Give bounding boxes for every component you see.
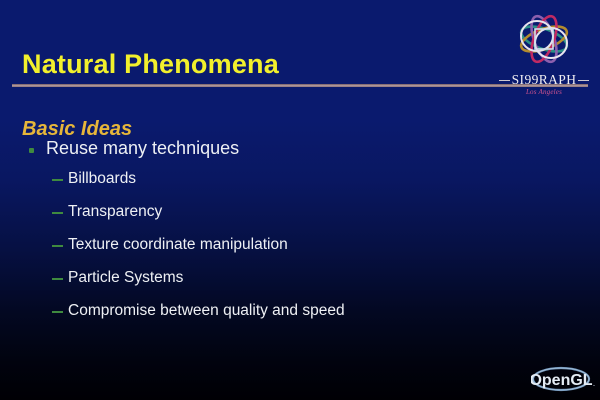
- list-item-label: Billboards: [68, 170, 136, 188]
- list-item: Texture coordinate manipulation: [0, 236, 600, 269]
- dash-bullet-icon: [52, 311, 63, 313]
- list-item: Reuse many techniques: [0, 138, 600, 170]
- siggraph-city-label: Los Angeles: [496, 88, 592, 96]
- list-item-label: Transparency: [68, 203, 162, 221]
- list-item-label: Compromise between quality and speed: [68, 302, 345, 320]
- siggraph-rings-icon: [496, 6, 592, 76]
- dash-bullet-icon: [52, 245, 63, 247]
- wordmark-left-dash-icon: [499, 80, 510, 81]
- siggraph-logo: SI99RAPH Los Angeles: [496, 6, 592, 104]
- opengl-wordmark-label: OpenGL: [531, 372, 593, 389]
- list-item-label: Texture coordinate manipulation: [68, 236, 288, 254]
- dash-bullet-icon: [52, 179, 63, 181]
- presentation-slide: Natural Phenomena Basic Ideas Reuse many…: [0, 0, 600, 400]
- list-item-label: Reuse many techniques: [46, 138, 239, 159]
- dash-bullet-icon: [52, 212, 63, 214]
- wordmark-right-dash-icon: [578, 80, 589, 81]
- list-item: Compromise between quality and speed: [0, 302, 600, 335]
- square-bullet-icon: [29, 148, 34, 153]
- bullet-list: Reuse many techniques Billboards Transpa…: [0, 138, 600, 335]
- dash-bullet-icon: [52, 278, 63, 280]
- slide-title: Natural Phenomena: [22, 49, 279, 80]
- opengl-ellipse-icon: OpenGL .: [531, 364, 599, 394]
- list-item: Transparency: [0, 203, 600, 236]
- siggraph-wordmark: SI99RAPH: [496, 72, 592, 88]
- list-item: Particle Systems: [0, 269, 600, 302]
- list-item-label: Particle Systems: [68, 269, 183, 287]
- opengl-trailing-mark: .: [593, 378, 596, 388]
- siggraph-wordmark-label: SI99RAPH: [512, 72, 577, 87]
- list-item: Billboards: [0, 170, 600, 203]
- opengl-logo: OpenGL .: [531, 364, 599, 394]
